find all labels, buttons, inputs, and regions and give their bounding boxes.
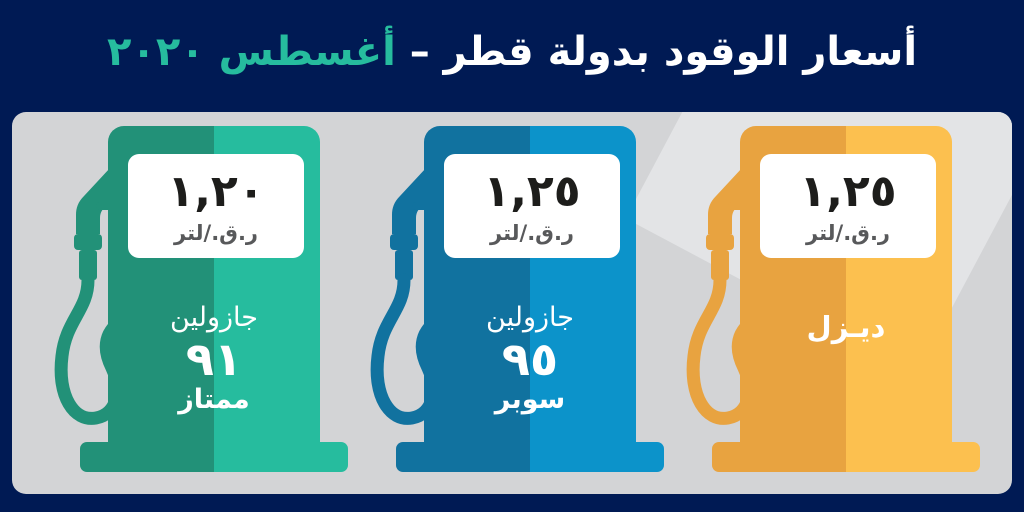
pump-base-dark-half (80, 442, 214, 472)
pump-base-light-half (214, 442, 348, 472)
price-unit: ر.ق./لتر (490, 223, 574, 244)
price-value: ١,٢٥ (483, 170, 580, 214)
price-card: ١,٢٥ ر.ق./لتر (444, 154, 620, 258)
content-panel: ١,٢٠ ر.ق./لتر جازولين ٩١ ممتاز (12, 112, 1012, 494)
pump-list: ١,٢٠ ر.ق./لتر جازولين ٩١ ممتاز (12, 112, 1012, 494)
pump-base-dark-half (396, 442, 530, 472)
pump-card-gasoline-95[interactable]: ١,٢٥ ر.ق./لتر جازولين ٩٥ سوبر (362, 126, 662, 478)
page-title: أسعار الوقود بدولة قطر – أغسطس ٢٠٢٠ (107, 32, 917, 72)
pump-base (396, 442, 664, 472)
pump-base-light-half (530, 442, 664, 472)
pump-card-gasoline-91[interactable]: ١,٢٠ ر.ق./لتر جازولين ٩١ ممتاز (46, 126, 346, 478)
price-unit: ر.ق./لتر (806, 223, 890, 244)
title-accent-text: أغسطس ٢٠٢٠ (107, 29, 396, 75)
pump-base-light-half (846, 442, 980, 472)
price-card: ١,٢٠ ر.ق./لتر (128, 154, 304, 258)
pump-base (712, 442, 980, 472)
price-value: ١,٢٥ (799, 170, 896, 214)
title-main-text: أسعار الوقود بدولة قطر – (396, 29, 917, 75)
price-card: ١,٢٥ ر.ق./لتر (760, 154, 936, 258)
pump-card-diesel[interactable]: ١,٢٥ ر.ق./لتر ديـزل (678, 126, 978, 478)
pump-base-dark-half (712, 442, 846, 472)
price-value: ١,٢٠ (167, 170, 264, 214)
price-unit: ر.ق./لتر (174, 223, 258, 244)
pump-base (80, 442, 348, 472)
infographic-root: أسعار الوقود بدولة قطر – أغسطس ٢٠٢٠ (0, 0, 1024, 512)
header-bar: أسعار الوقود بدولة قطر – أغسطس ٢٠٢٠ (0, 0, 1024, 104)
